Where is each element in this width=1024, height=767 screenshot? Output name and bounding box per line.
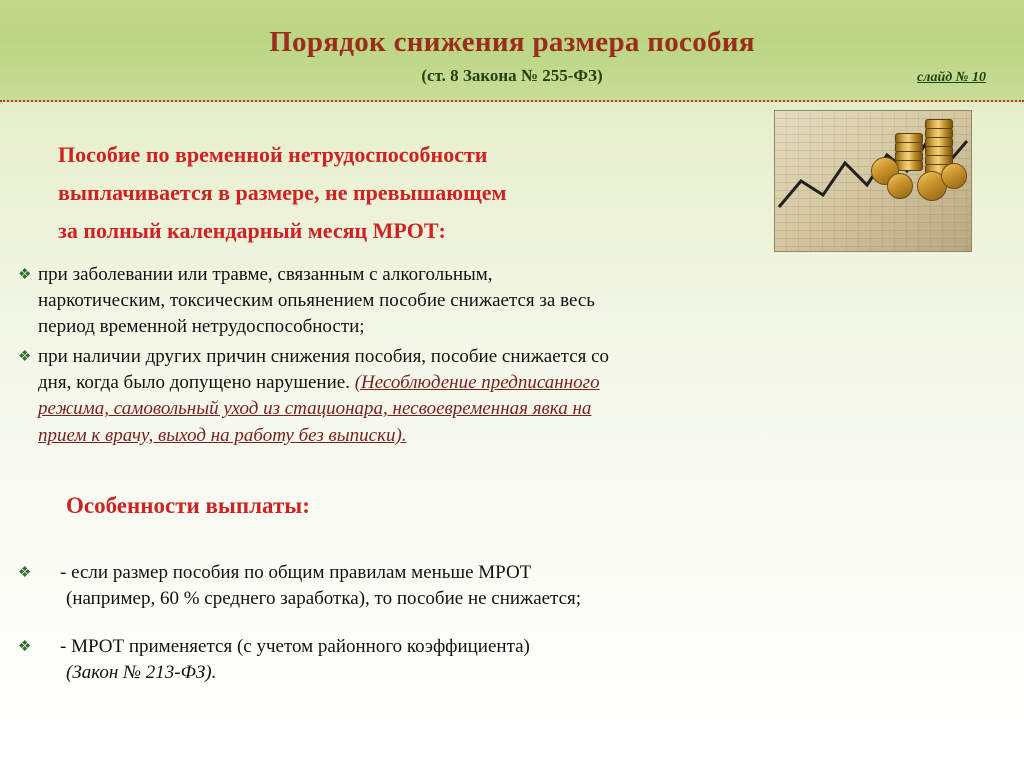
bullet2-accent-1: (Несоблюдение предписанного	[355, 372, 600, 393]
diamond-bullet-icon: ❖	[18, 344, 38, 367]
page-subtitle: (ст. 8 Закона № 255-ФЗ)	[0, 66, 1024, 86]
coins-and-chart-photo	[774, 110, 972, 252]
lead-line-1: Пособие по временной нетрудоспособности	[58, 140, 487, 169]
list-item-text: - если размер пособия по общим правилам …	[38, 560, 581, 612]
bullet2-accent-2: режима, самовольный уход из стационара, …	[38, 396, 609, 422]
diamond-bullet-icon: ❖	[18, 262, 38, 285]
list-item: ❖ при наличии других причин снижения пос…	[18, 344, 998, 449]
bullet3-line1: - если размер пособия по общим правилам …	[38, 560, 581, 586]
bullet4-line1: - МРОТ применяется (с учетом районного к…	[38, 634, 530, 660]
list-item: ❖ - если размер пособия по общим правила…	[18, 560, 998, 612]
page-title: Порядок снижения размера пособия	[0, 26, 1024, 59]
lead-line-3: за полный календарный месяц МРОТ:	[58, 216, 446, 245]
diamond-bullet-icon: ❖	[18, 634, 38, 657]
bullet3-line2: (например, 60 % среднего заработка), то …	[38, 586, 581, 612]
bullet1-line3: период временной нетрудоспособности;	[38, 314, 595, 340]
section-heading-special-payments: Особенности выплаты:	[66, 493, 310, 519]
bullet2-line1: при наличии других причин снижения пособ…	[38, 344, 609, 370]
bullet4-line2: (Закон № 213-ФЗ).	[38, 660, 530, 686]
list-item-text: при наличии других причин снижения пособ…	[38, 344, 609, 449]
bullet2-line2: дня, когда было допущено нарушение. (Нес…	[38, 370, 609, 396]
bullet1-line2: наркотическим, токсическим опьянением по…	[38, 288, 595, 314]
diamond-bullet-icon: ❖	[18, 560, 38, 583]
slide-number-badge: слайд № 10	[917, 70, 986, 86]
coin-single-b	[887, 173, 913, 199]
slide-canvas: Порядок снижения размера пособия (ст. 8 …	[0, 0, 1024, 767]
bullet1-line1: при заболевании или травме, связанным с …	[38, 262, 595, 288]
bullet2-line2-plain: дня, когда было допущено нарушение.	[38, 372, 355, 393]
list-item-text: при заболевании или травме, связанным с …	[38, 262, 595, 341]
coin-single-d	[941, 163, 967, 189]
list-item-text: - МРОТ применяется (с учетом районного к…	[38, 634, 530, 686]
slide-header: Порядок снижения размера пособия (ст. 8 …	[0, 0, 1024, 102]
bullet2-accent-3: прием к врачу, выход на работу без выпис…	[38, 423, 609, 449]
lead-line-2: выплачивается в размере, не превышающем	[58, 178, 506, 207]
list-item: ❖ при заболевании или травме, связанным …	[18, 262, 998, 341]
coin-stack-d	[895, 160, 923, 171]
list-item: ❖ - МРОТ применяется (с учетом районного…	[18, 634, 998, 686]
